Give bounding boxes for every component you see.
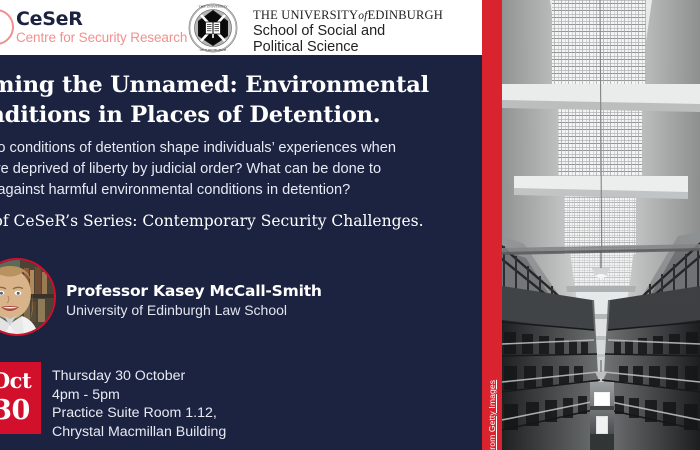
speaker-info: Professor Kasey McCall-Smith University … — [66, 282, 322, 319]
description-line2: they are deprived of liberty by judicial… — [0, 159, 476, 180]
poster-title-line1: Naming the Unnamed: Environmental — [0, 70, 476, 100]
description-line1: How do conditions of detention shape ind… — [0, 138, 476, 159]
prison-photo — [502, 0, 700, 450]
ceser-logo: CeSeR Centre for Security Research — [16, 9, 187, 46]
image-credit-source[interactable]: Crosbygrisu from Getty Images — [487, 380, 497, 450]
university-wordmark: THE UNIVERSITYofEDINBURGH School of Soci… — [253, 8, 443, 55]
poster-title-line2: Conditions in Places of Detention. — [0, 100, 476, 130]
ceser-circle-icon — [0, 9, 14, 45]
date-badge: Oct 30 — [0, 362, 41, 434]
university-name-pre: THE UNIVERSITY — [253, 8, 358, 22]
university-crest-icon: · THE UNIVERSITY · · OF EDINBURGH · — [188, 3, 238, 53]
speaker-name: Professor Kasey McCall-Smith — [66, 282, 322, 301]
speaker-block: Professor Kasey McCall-Smith University … — [0, 258, 448, 338]
badge-day: 30 — [0, 396, 41, 426]
university-name-post: EDINBURGH — [368, 8, 443, 22]
svg-text:· OF EDINBURGH ·: · OF EDINBURGH · — [198, 48, 229, 52]
event-details: Thursday 30 October 4pm - 5pm Practice S… — [52, 367, 432, 441]
university-name: THE UNIVERSITYofEDINBURGH — [253, 8, 443, 23]
event-poster: CeSeR Centre for Security Research — [0, 0, 700, 450]
ceser-name: CeSeR — [16, 9, 187, 29]
speaker-affiliation: University of Edinburgh Law School — [66, 301, 322, 319]
event-time: 4pm - 5pm — [52, 386, 432, 405]
poster-description: How do conditions of detention shape ind… — [0, 138, 476, 201]
school-name-line2: Political Science — [253, 39, 443, 55]
event-venue-line2: Chrystal Macmillan Building — [52, 423, 432, 442]
image-credit: Image: Crosbygrisu from Getty Images — [487, 309, 497, 450]
poster-title: Naming the Unnamed: Environmental Condit… — [0, 70, 476, 130]
event-venue-line1: Practice Suite Room 1.12, — [52, 404, 432, 423]
ceser-subtitle: Centre for Security Research — [16, 30, 187, 46]
red-accent-stripe: Image: Crosbygrisu from Getty Images — [482, 0, 502, 450]
speaker-avatar — [0, 258, 56, 336]
series-line: Part of CeSeR’s Series: Contemporary Sec… — [0, 210, 476, 232]
university-name-of: of — [358, 10, 367, 22]
badge-month: Oct — [0, 366, 41, 396]
poster-left-panel: CeSeR Centre for Security Research — [0, 0, 482, 450]
svg-text:· THE UNIVERSITY ·: · THE UNIVERSITY · — [197, 4, 230, 8]
description-line3: guard against harmful environmental cond… — [0, 180, 476, 201]
school-name-line1: School of Social and — [253, 23, 443, 39]
event-date: Thursday 30 October — [52, 367, 432, 386]
logo-bar: CeSeR Centre for Security Research — [0, 0, 482, 55]
